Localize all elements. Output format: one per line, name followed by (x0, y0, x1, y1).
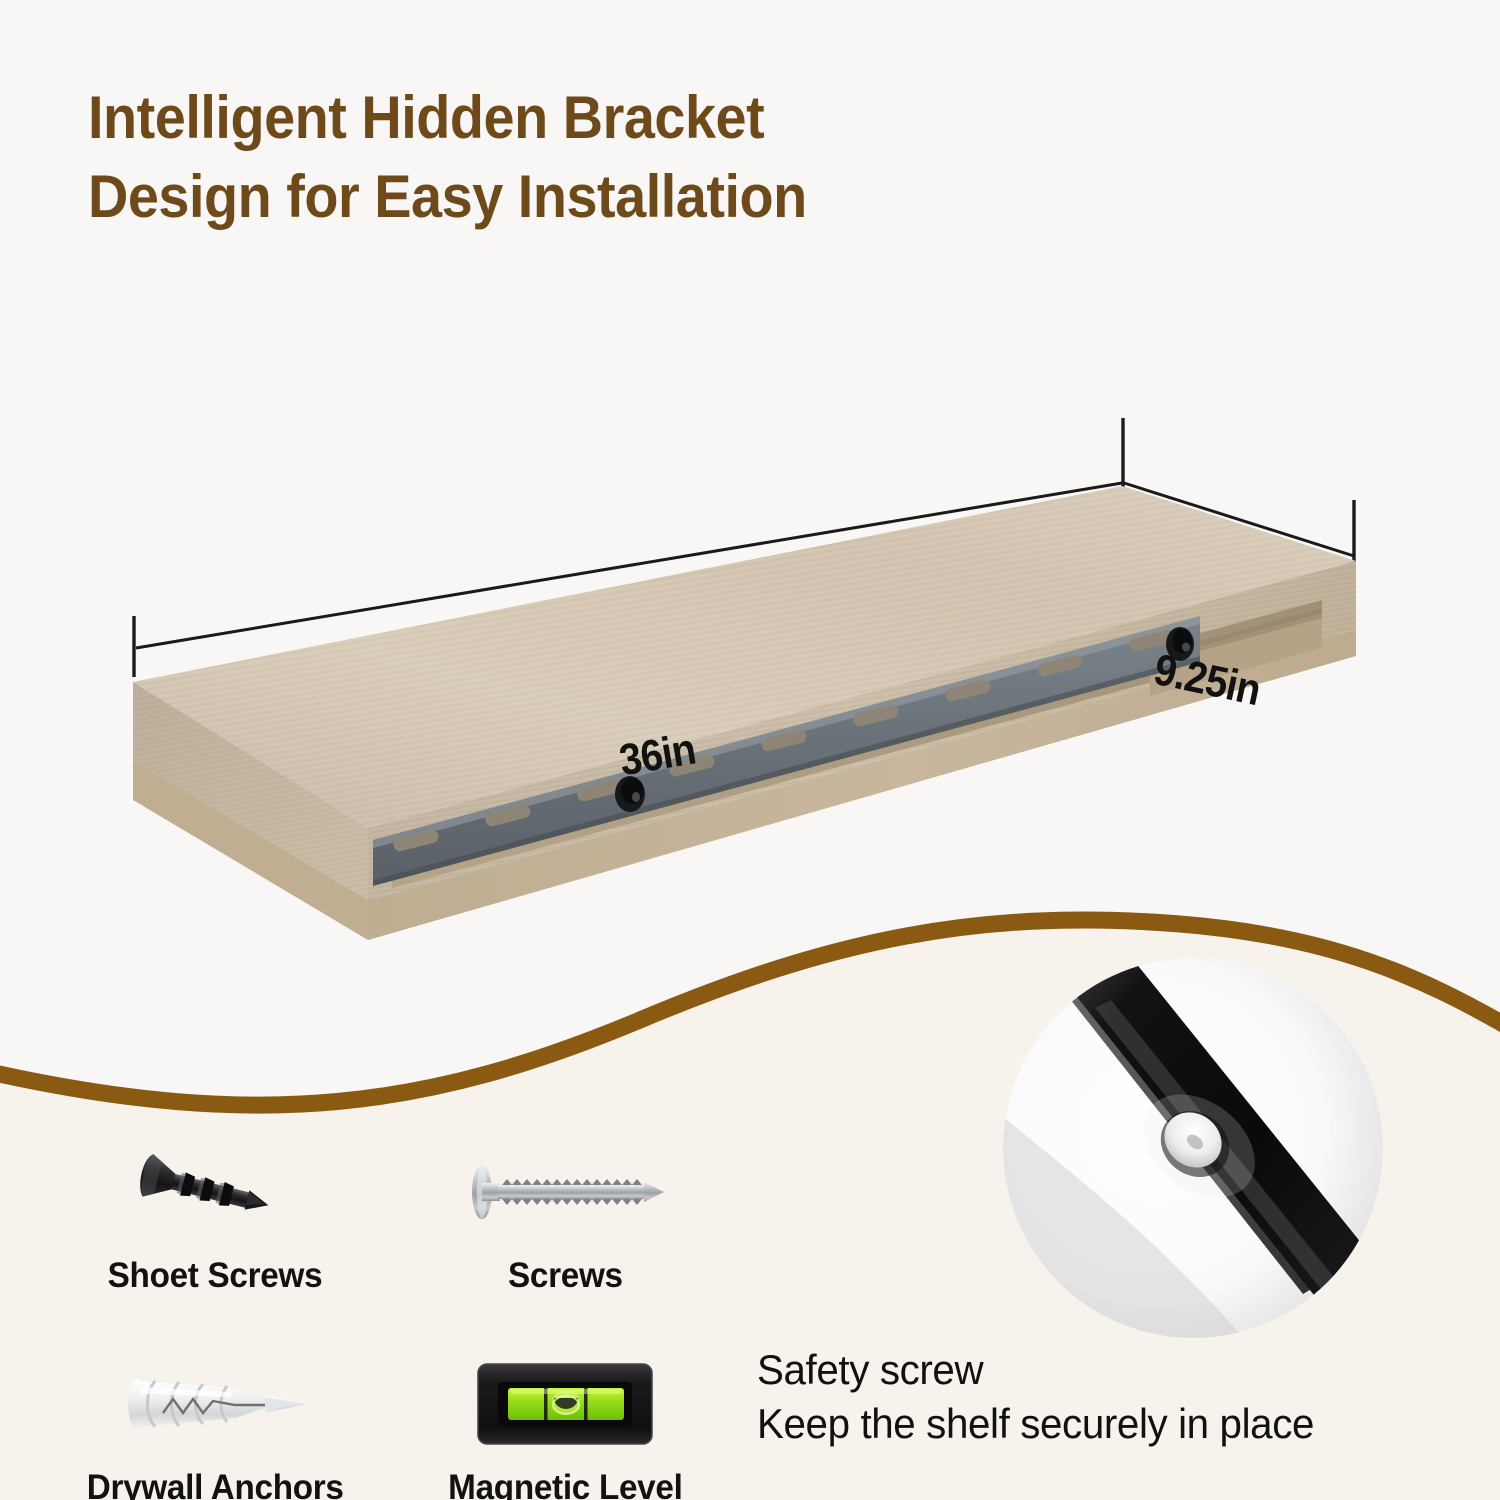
page-title: Intelligent Hidden Bracket Design for Ea… (88, 78, 1018, 236)
accessory-label: Drywall Anchors (87, 1468, 344, 1500)
accessory-label: Shoet Screws (108, 1256, 323, 1296)
accessory-magnetic-level[interactable]: Magnetic Level (390, 1352, 740, 1500)
accessories-row-1: Shoet Screws (40, 1140, 740, 1296)
safety-caption-line-2: Keep the shelf securely in place (757, 1397, 1314, 1451)
accessories-row-2: Drywall Anchors (40, 1352, 740, 1500)
product-hero: 36in 9.25in (0, 300, 1500, 1000)
accessory-screws[interactable]: Screws (390, 1140, 740, 1296)
page-title-line-1: Intelligent Hidden Bracket (88, 78, 1018, 157)
bubble-level-icon (450, 1352, 680, 1456)
page-title-line-2: Design for Easy Installation (88, 157, 1018, 236)
black-screw-icon (100, 1140, 330, 1244)
product-infographic: Intelligent Hidden Bracket Design for Ea… (0, 0, 1500, 1500)
silver-screw-icon (450, 1140, 680, 1244)
safety-screw-caption: Safety screw Keep the shelf securely in … (757, 1343, 1314, 1451)
shelf-body (133, 486, 1356, 940)
accessory-drywall-anchors[interactable]: Drywall Anchors (40, 1352, 390, 1500)
drywall-anchor-icon (100, 1352, 330, 1456)
accessory-label: Screws (508, 1256, 623, 1296)
safety-screw-closeup-inset (1003, 958, 1383, 1338)
safety-caption-line-1: Safety screw (757, 1343, 1314, 1397)
accessories-grid: Shoet Screws (40, 1140, 740, 1500)
accessory-shoet-screws[interactable]: Shoet Screws (40, 1140, 390, 1296)
accessory-label: Magnetic Level (448, 1468, 682, 1500)
